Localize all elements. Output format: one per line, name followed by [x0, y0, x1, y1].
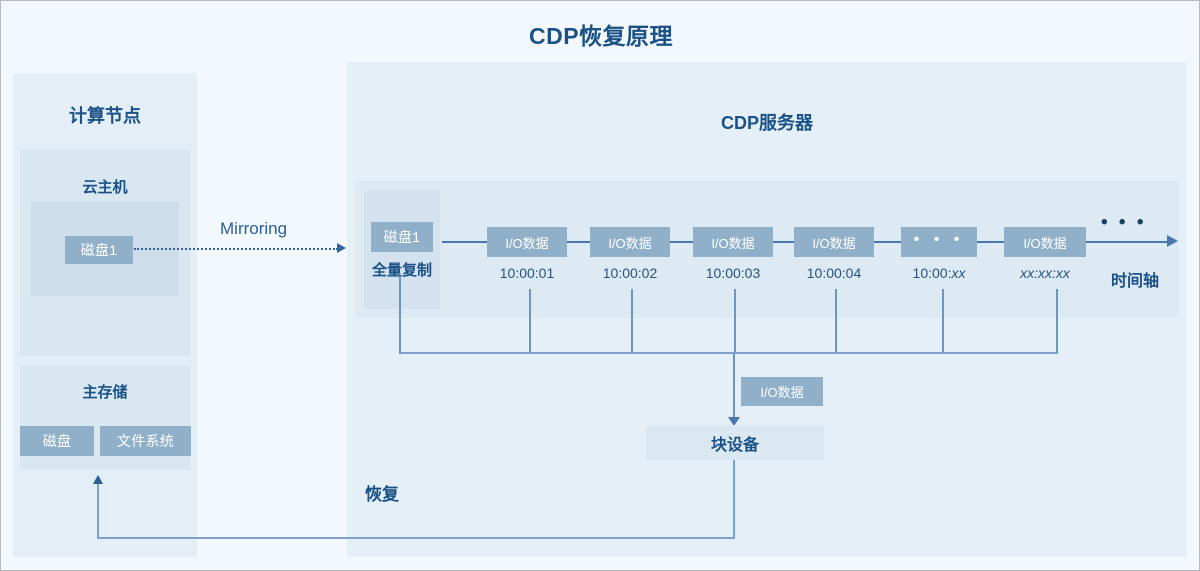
block-device-io-chip: I/O数据: [741, 377, 823, 406]
mirroring-label: Mirroring: [220, 219, 287, 239]
timeline-drop-line-5: [942, 289, 944, 354]
block-device-input-line: [733, 353, 735, 421]
full-copy-drop-line: [399, 277, 401, 354]
cloud-host-heading: 云主机: [20, 176, 190, 197]
timeline-timestamp-5: 10:00:xx: [881, 265, 997, 281]
cloud-host-disk1-chip: 磁盘1: [65, 236, 133, 264]
recovery-label: 恢复: [365, 480, 399, 505]
timeline-io-box-5: • • •: [901, 227, 977, 257]
timeline-timestamp-4: 10:00:04: [774, 265, 894, 281]
mirroring-arrow-icon: [337, 243, 346, 253]
cdp-disk1-chip: 磁盘1: [371, 222, 433, 252]
mirroring-dotted-line: [134, 248, 338, 250]
timeline-trailing-dots: • • •: [1101, 213, 1147, 232]
main-storage-heading: 主存储: [20, 381, 190, 402]
timeline-io-box-1: I/O数据: [487, 227, 567, 257]
timeline-io-box-6: I/O数据: [1004, 227, 1086, 257]
timeline-arrow-icon: [1167, 235, 1178, 247]
timeline-io-box-2: I/O数据: [590, 227, 670, 257]
page-title: CDP恢复原理: [1, 17, 1200, 51]
timeline-timestamp-6: xx:xx:xx: [984, 265, 1106, 281]
main-storage-disk-chip: 磁盘: [20, 426, 94, 456]
timeline-timestamp-1: 10:00:01: [467, 265, 587, 281]
timeline-drop-line-4: [835, 289, 837, 354]
compute-node-heading: 计算节点: [13, 102, 197, 128]
recovery-line-vertical-right: [733, 460, 735, 538]
block-device-box: 块设备: [646, 425, 824, 460]
timeline-timestamp-2: 10:00:02: [570, 265, 690, 281]
timeline-drop-line-2: [631, 289, 633, 354]
timeline-bracket: [399, 352, 1057, 354]
recovery-arrow-icon: [93, 475, 103, 484]
timeline-io-box-4: I/O数据: [794, 227, 874, 257]
recovery-line-vertical-left: [97, 483, 99, 538]
timeline-axis-label: 时间轴: [1111, 267, 1159, 291]
timeline-drop-line-1: [529, 289, 531, 354]
full-copy-label: 全量复制: [364, 259, 440, 280]
timeline-drop-line-3: [734, 289, 736, 354]
diagram-canvas: CDP恢复原理 计算节点 云主机 磁盘1 主存储 磁盘 文件系统 Mirrori…: [0, 0, 1200, 571]
main-storage-filesystem-chip: 文件系统: [100, 426, 191, 456]
timeline-io-box-3: I/O数据: [693, 227, 773, 257]
cdp-server-heading: CDP服务器: [347, 109, 1187, 135]
recovery-line-horizontal: [97, 537, 735, 539]
timeline-drop-line-6: [1056, 289, 1058, 354]
